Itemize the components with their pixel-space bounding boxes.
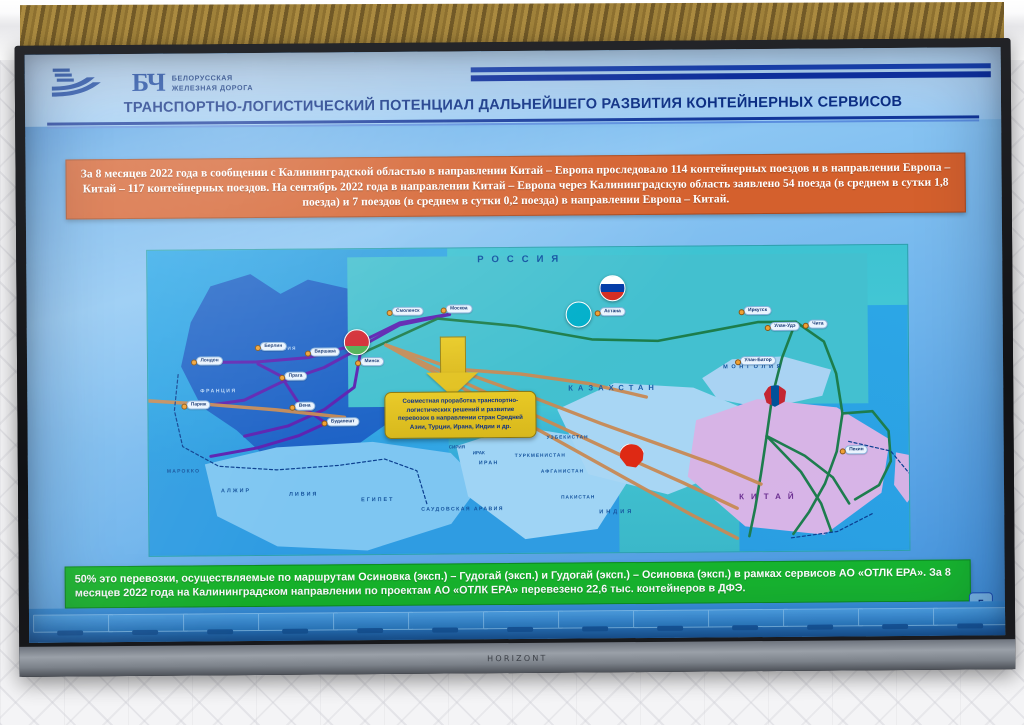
city-label: Чита (808, 320, 828, 329)
city-label: Москва (446, 304, 473, 313)
city-label: Варшава (310, 347, 340, 356)
callout-arrow-shaft (440, 336, 466, 375)
monitor-brand-label: Horizont (487, 653, 548, 662)
city-label: Улан-Удэ (770, 322, 800, 331)
green-note-banner: 50% это перевозки, осуществляемые по мар… (65, 559, 971, 608)
train-truck-graphic (282, 629, 308, 634)
route-node (191, 359, 197, 365)
city-label: Минск (360, 357, 384, 366)
eurasia-map: РОССИЯ КАЗАХСТАН КИТАЙ МОНГОЛИЯ ТУРЦИЯ А… (146, 244, 910, 557)
route-node (595, 310, 601, 316)
orange-stat-banner: За 8 месяцев 2022 года в сообщении с Кал… (65, 152, 965, 219)
city-label: Париж (186, 400, 210, 409)
city-label: Будапешт (326, 417, 359, 426)
logo-line-1: БЕЛОРУССКАЯ (172, 73, 253, 83)
cooperation-callout: Совместная проработка транспортно-логист… (384, 391, 536, 439)
route-node (765, 325, 771, 331)
green-banner-text: 50% это перевозки, осуществляемые по мар… (75, 566, 961, 602)
orange-banner-text: За 8 месяцев 2022 года в сообщении с Кал… (76, 160, 954, 212)
route-node (803, 323, 809, 329)
city-label: Лондон (196, 356, 223, 365)
train-truck-graphic (657, 626, 683, 631)
train-truck-graphic (732, 625, 758, 630)
display-monitor: БЧ БЕЛОРУССКАЯ ЖЕЛЕЗНАЯ ДОРОГА ТРАНСПОРТ… (15, 38, 1016, 677)
route-node (279, 375, 285, 381)
flag-badge-by (344, 329, 370, 355)
train-truck-graphic (507, 627, 533, 632)
route-node (355, 360, 361, 366)
route-node (735, 359, 741, 365)
city-label: Вена (294, 402, 315, 411)
railway-logo: БЧ БЕЛОРУССКАЯ ЖЕЛЕЗНАЯ ДОРОГА (51, 65, 253, 101)
route-node (739, 309, 745, 315)
train-truck-graphic (57, 630, 83, 635)
callout-text: Совместная проработка транспортно-логист… (391, 397, 529, 433)
bch-logo-icon (51, 66, 125, 101)
logo-line-2: ЖЕЛЕЗНАЯ ДОРОГА (172, 83, 253, 93)
logo-wordmark: БЕЛОРУССКАЯ ЖЕЛЕЗНАЯ ДОРОГА (172, 73, 253, 93)
city-label: Смоленск (392, 307, 424, 316)
route-node (181, 404, 187, 410)
flag-badge-ru (599, 275, 625, 301)
logo-letters: БЧ (132, 70, 165, 96)
route-node (255, 345, 261, 351)
city-label: Прага (284, 372, 307, 381)
photo-scene: БЧ БЕЛОРУССКАЯ ЖЕЛЕЗНАЯ ДОРОГА ТРАНСПОРТ… (0, 0, 1024, 725)
train-truck-graphic (357, 628, 383, 633)
flag-badge-kz (566, 301, 592, 327)
train-truck-graphic (432, 627, 458, 632)
city-label: Пекин (845, 445, 868, 454)
city-label: Астана (600, 307, 626, 316)
city-label: Берлин (260, 342, 287, 351)
train-truck-graphic (132, 630, 158, 635)
train-truck-graphic (807, 625, 833, 630)
presentation-slide: БЧ БЕЛОРУССКАЯ ЖЕЛЕЗНАЯ ДОРОГА ТРАНСПОРТ… (25, 47, 1006, 643)
route-node (321, 420, 327, 426)
route-node (441, 308, 447, 314)
route-node (305, 351, 311, 357)
header-accent-bars (471, 63, 991, 93)
route-node (387, 310, 393, 316)
route-node (289, 405, 295, 411)
train-truck-graphic (207, 629, 233, 634)
train-truck-graphic (582, 626, 608, 631)
city-label: Улан-Батор (740, 356, 776, 365)
route-node (840, 448, 846, 454)
train-truck-graphic (957, 623, 983, 628)
train-truck-graphic (882, 624, 908, 629)
city-label: Иркутск (744, 306, 772, 315)
